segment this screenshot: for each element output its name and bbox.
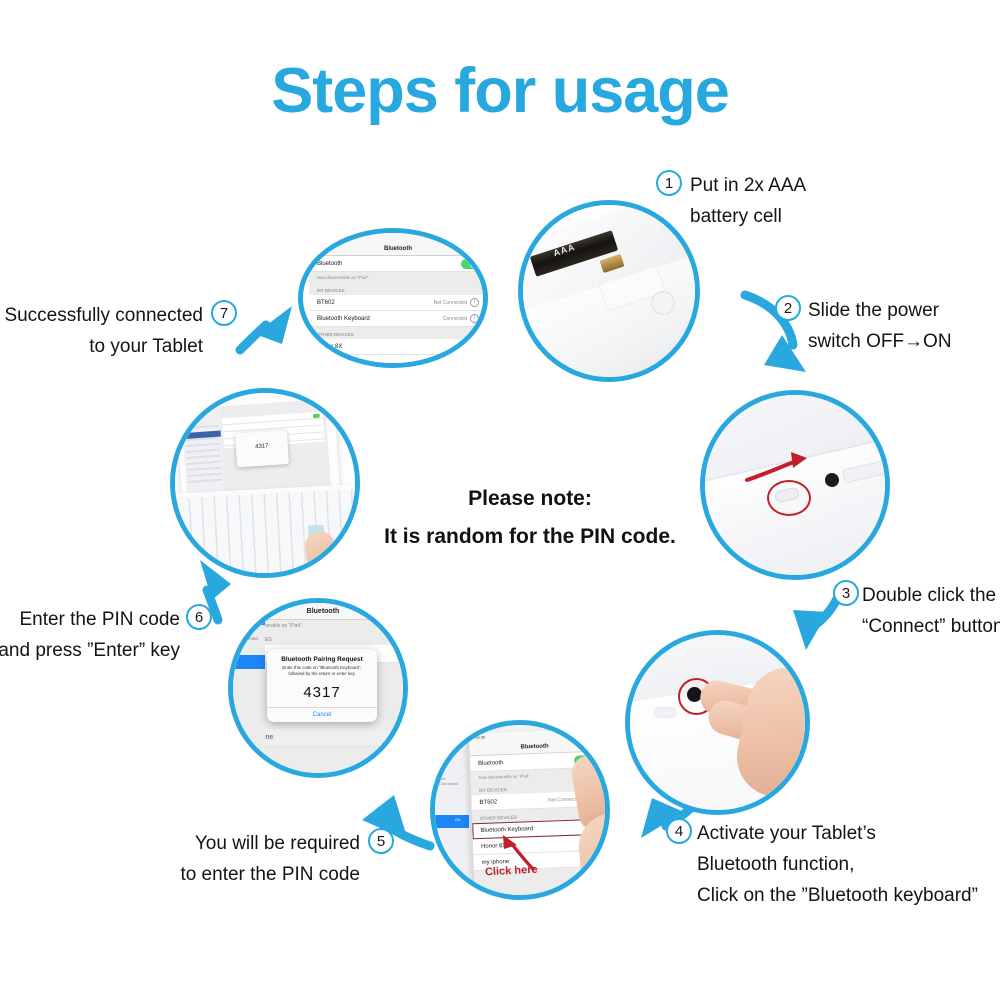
step-badge-1: 1	[656, 170, 682, 196]
device-status: Not Connected i	[434, 298, 479, 307]
device-name: BT602	[317, 300, 335, 306]
sidebar-status: Not Connected	[435, 754, 469, 786]
tablet-screen: 4317	[181, 399, 331, 499]
note-line-2: It is random for the PIN code.	[330, 518, 730, 556]
step-badge-5: 5	[368, 828, 394, 854]
sidebar-on-label: On	[455, 817, 460, 822]
power-switch-red-arrow	[743, 450, 813, 490]
device-name: Honor 8X	[317, 344, 342, 350]
device-row-bluetooth-keyboard[interactable]: Bluetooth Keyboard Connected i	[309, 311, 483, 327]
section-my-devices: MY DEVICES	[309, 283, 483, 295]
device-row[interactable]: BT602 Not Connected i	[309, 295, 483, 311]
center-note: Please note: It is random for the PIN co…	[330, 480, 730, 556]
step-badge-6: 6	[186, 604, 212, 630]
note-line-1: Please note:	[330, 480, 730, 518]
step-badge-3: 3	[833, 580, 859, 606]
step-badge-4: 4	[666, 818, 692, 844]
step-caption-2: Slide the power switch OFF→ON	[808, 295, 1000, 357]
step-caption-4: Activate your Tablet’s Bluetooth functio…	[697, 818, 1000, 911]
status-battery: 100%	[471, 235, 481, 240]
step-caption-6: Enter the PIN code and press ”Enter” key	[0, 604, 180, 666]
page-title: Steps for usage	[0, 55, 1000, 127]
photo-tablet-connected: 09:30 100% Bluetooth Bluetooth Now disco…	[298, 228, 488, 368]
status-battery: 100%	[583, 731, 593, 736]
bluetooth-row-label: Bluetooth	[317, 261, 342, 267]
bluetooth-toggle	[313, 414, 320, 418]
step-badge-2: 2	[775, 295, 801, 321]
photo-tablet-pairing-request: Bluetooth Now discoverable as “iPad”. MY…	[228, 598, 408, 778]
cancel-button[interactable]: Cancel	[267, 707, 377, 722]
device-row[interactable]: iphone	[309, 355, 483, 363]
step-caption-1: Put in 2x AAA battery cell	[690, 170, 950, 232]
status-time: 09:30	[315, 235, 325, 240]
device-name: iphone	[317, 360, 343, 364]
dialog-title: Bluetooth Pairing Request	[267, 649, 377, 665]
step-caption-3: Double click the “Connect” button	[862, 580, 1000, 642]
photo-tablet-bluetooth-list: Settings Not Connected On 09:30 100% Blu…	[430, 720, 610, 900]
info-icon[interactable]: i	[470, 298, 479, 307]
bluetooth-pairing-dialog: Bluetooth Pairing Request Enter this cod…	[267, 649, 377, 722]
device-row[interactable]: Honor 8X	[309, 339, 483, 355]
device-name: Bluetooth Keyboard	[317, 316, 370, 322]
ios-settings-sidebar: Not Connected On	[233, 603, 265, 773]
sidebar-on-label: On	[249, 614, 256, 620]
photo-connect-button	[625, 630, 810, 815]
pin-code: 4317	[267, 681, 377, 707]
discoverable-note: Now discoverable as “iPad”.	[309, 272, 483, 283]
steps-for-usage-infographic: Steps for usage	[0, 0, 1000, 1000]
device-name: BT602	[479, 799, 497, 806]
step-caption-7: Successfully connected to your Tablet	[0, 300, 203, 362]
status-time: 09:30	[475, 735, 485, 740]
nav-title: Bluetooth	[309, 242, 483, 256]
status-bar: 09:30 100%	[309, 233, 483, 242]
step-badge-7: 7	[211, 300, 237, 326]
bluetooth-row-label: Bluetooth	[478, 760, 504, 767]
step-caption-5: You will be required to enter the PIN co…	[120, 828, 360, 890]
ios-settings-sidebar: Settings Not Connected On	[435, 743, 469, 895]
device-status: Connected i	[443, 314, 479, 323]
bluetooth-toggle[interactable]	[461, 259, 479, 269]
bluetooth-toggle-row[interactable]: Bluetooth	[309, 256, 483, 272]
round-button	[651, 291, 675, 315]
ios-bluetooth-screen-connected: 09:30 100% Bluetooth Bluetooth Now disco…	[309, 233, 483, 363]
info-icon[interactable]: i	[470, 314, 479, 323]
sidebar-title: Settings	[435, 743, 469, 754]
section-other-devices: OTHER DEVICES	[309, 327, 483, 339]
photo-battery-compartment: AAA	[518, 200, 700, 382]
dialog-body: Enter this code on “Bluetooth Keyboard”,…	[267, 665, 377, 681]
arrow-step6-to-step7	[240, 306, 292, 350]
sidebar-selected-row[interactable]	[435, 815, 469, 828]
sidebar-selected-row-2[interactable]	[233, 655, 265, 669]
power-slider-switch-background	[654, 707, 676, 718]
